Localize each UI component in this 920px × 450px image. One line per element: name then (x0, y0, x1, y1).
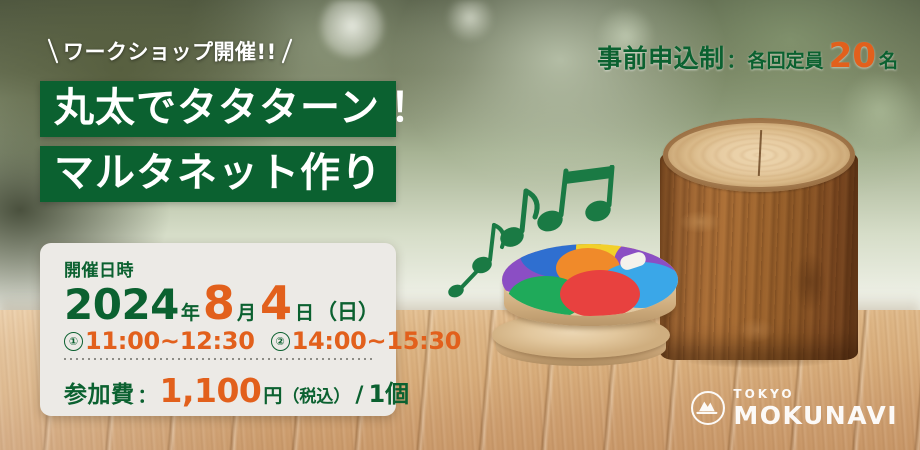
logo-main-text: MOKUNAVI (733, 403, 898, 428)
session-1-time: 11:00~12:30 (85, 327, 255, 355)
date-day-unit: 日 (292, 298, 316, 325)
date-month-unit: 月 (235, 298, 260, 325)
date-year-unit: 年 (179, 298, 203, 325)
session-2-time: 14:00~15:30 (292, 327, 462, 355)
card-divider (64, 358, 374, 360)
logo-top-text: TOKYO (733, 388, 898, 400)
fee-amount: 1,100 (160, 371, 262, 410)
capacity-sub: 各回定員 (748, 46, 824, 73)
tree-stump-image (660, 118, 858, 360)
event-date: 2024 年 8 月 4 日 （日） (64, 276, 379, 330)
workshop-banner: ワークショップ開催!! 丸太でタタターン！ マルタネット作り 事前申込制 ： 各… (0, 0, 920, 450)
session-2: ② 14:00~15:30 (271, 327, 462, 355)
session-1-marker: ① (64, 332, 83, 351)
logo-wordmark: TOKYO MOKUNAVI (733, 388, 898, 428)
capacity-number: 20 (824, 36, 879, 76)
capacity-unit: 名 (879, 46, 898, 73)
session-1: ① 11:00~12:30 (64, 327, 255, 355)
mountain-circle-icon (691, 391, 725, 425)
date-month: 8 (203, 276, 235, 330)
capacity-note: 事前申込制 ： 各回定員 20 名 (597, 36, 898, 76)
capacity-label: 事前申込制 (597, 39, 725, 75)
fee-row: 参加費 ： 1,100 円 （税込） / 1個 (64, 371, 409, 410)
fee-separator: / (350, 383, 368, 408)
music-notes-icon (440, 165, 630, 325)
event-info-card: 開催日時 2024 年 8 月 4 日 （日） ① 11:00~12:30 ② … (40, 243, 396, 416)
date-weekday: （日） (316, 296, 379, 326)
fee-label: 参加費 (64, 375, 135, 409)
fee-tax-note: （税込） (282, 382, 350, 407)
capacity-colon: ： (725, 46, 748, 73)
fee-colon: ： (135, 381, 160, 408)
fee-per-unit: 1個 (368, 374, 409, 409)
session-times: ① 11:00~12:30 ② 14:00~15:30 (64, 327, 461, 355)
kicker-banner: ワークショップ開催!! (52, 36, 288, 66)
session-2-marker: ② (271, 332, 290, 351)
stump-crack (758, 130, 762, 176)
tokyo-mokunavi-logo: TOKYO MOKUNAVI (691, 388, 898, 428)
kicker-label: ワークショップ開催!! (63, 36, 277, 66)
fee-currency: 円 (261, 381, 282, 408)
date-day: 4 (260, 276, 292, 330)
title-line-1: 丸太でタタターン！ (40, 81, 396, 137)
title-line-2: マルタネット作り (40, 146, 396, 202)
date-year: 2024 (64, 280, 179, 329)
stump-cut-face (663, 118, 855, 192)
